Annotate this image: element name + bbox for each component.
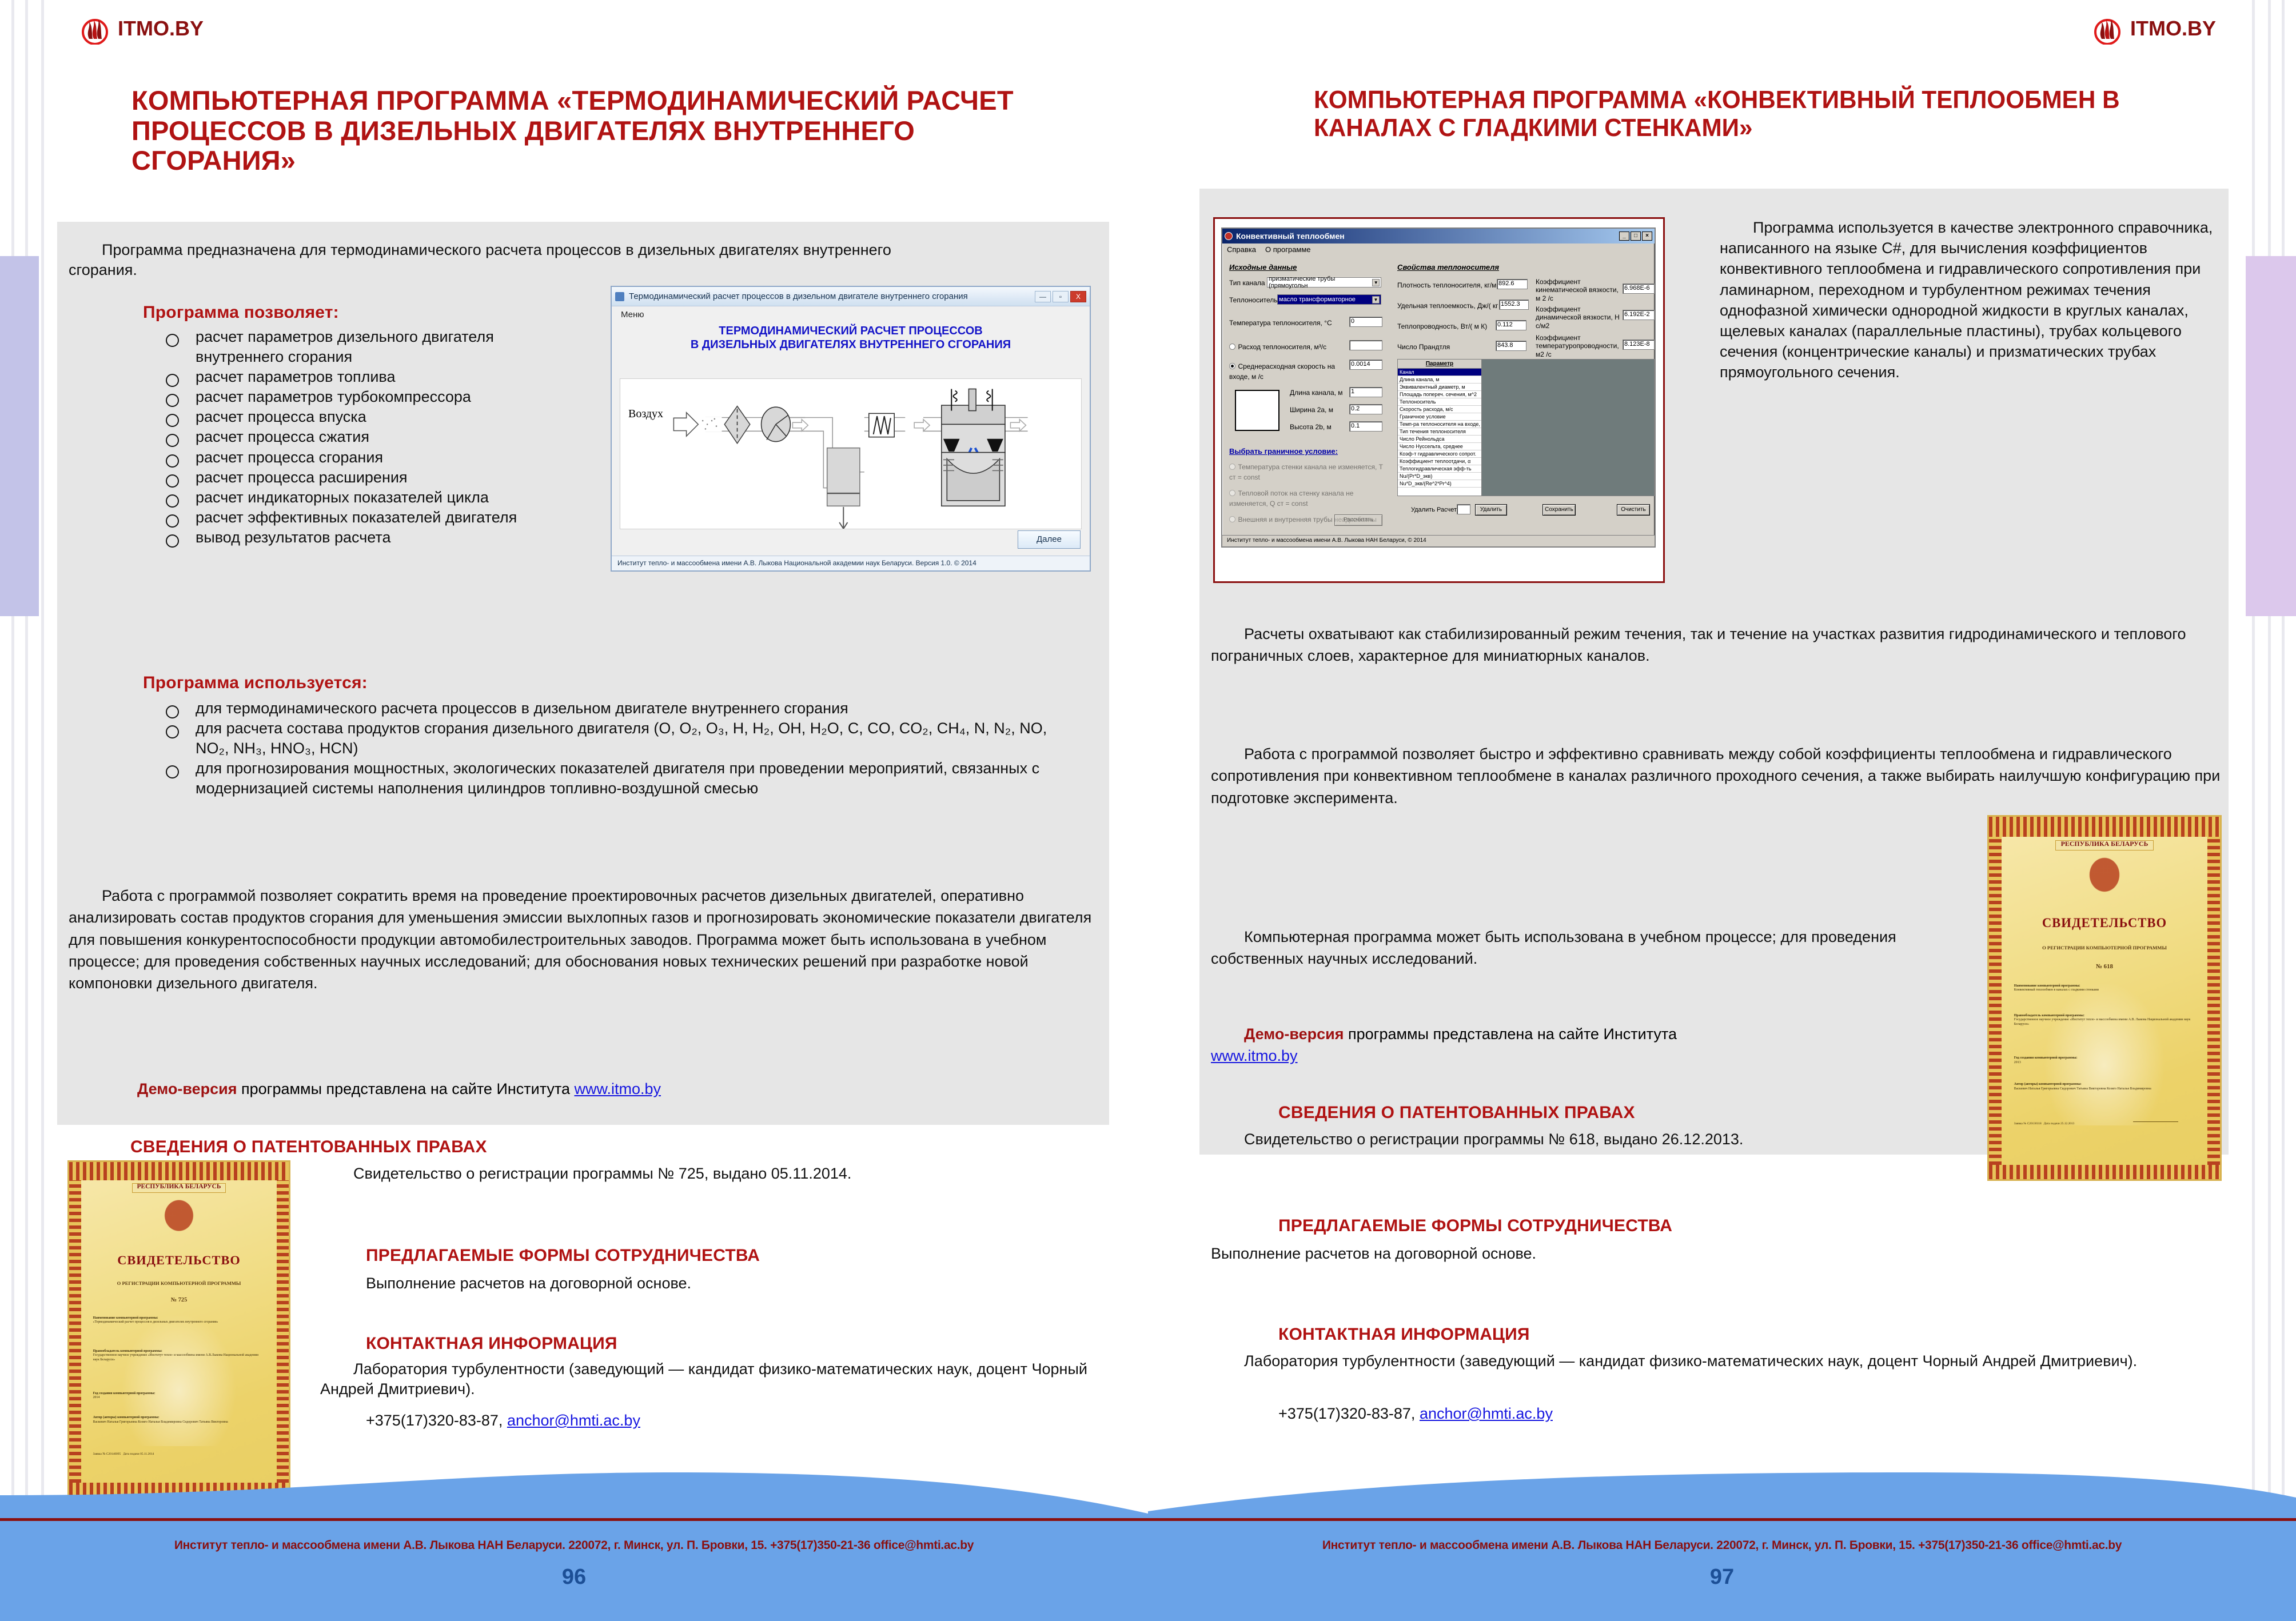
table-row[interactable]: Длина канала, м: [1398, 376, 1481, 384]
engine-schematic-icon: [620, 379, 1081, 529]
demo-link[interactable]: www.itmo.by: [1211, 1047, 1298, 1064]
calculate-button[interactable]: Рассчитать: [1334, 514, 1382, 526]
table-row[interactable]: Nu/(Pr*D_экв): [1398, 473, 1481, 480]
cert-number: № 725: [81, 1297, 277, 1303]
certificate-image: РЕСПУБЛИКА БЕЛАРУСЬ СВИДЕТЕЛЬСТВО О РЕГИ…: [1987, 815, 2222, 1181]
cert-title: СВИДЕТЕЛЬСТВО: [2010, 916, 2199, 931]
cert-f5-label: Заявка №: [93, 1452, 106, 1456]
contact-phone-line: +375(17)320-83-87, anchor@hmti.ac.by: [366, 1411, 1086, 1431]
velocity-input[interactable]: 0.0014: [1349, 360, 1382, 370]
page-left: ITMO.BY КОМПЬЮТЕРНАЯ ПРОГРАММА «ТЕРМОДИН…: [0, 0, 1148, 1621]
demo-line: Демо-версия программы представлена на са…: [1211, 1023, 1943, 1067]
page-right: ITMO.BY КОМПЬЮТЕРНАЯ ПРОГРАММА «КОНВЕКТИ…: [1148, 0, 2296, 1621]
decor-vrule: [2268, 0, 2271, 1621]
list-item: расчет параметров топлива: [143, 367, 543, 387]
grid-header: Параметр: [1398, 360, 1481, 369]
cert-f4-value: Васкевич Наталья Григорьевна Козяго Ната…: [93, 1420, 228, 1424]
cert-f4-label: Автор (авторы) компьютерной программы:: [2014, 1083, 2195, 1087]
window-statusbar: Институт тепло- и массообмена имени А.В.…: [1222, 535, 1655, 546]
prop2-value-0[interactable]: 6.968E-6: [1623, 284, 1655, 294]
table-row[interactable]: Число Рейнольдса: [1398, 436, 1481, 443]
list-item: расчет параметров турбокомпрессора: [143, 387, 543, 407]
list-item: расчет процесса впуска: [143, 407, 543, 427]
cert-f5-value: С20130118: [2027, 1122, 2042, 1125]
coop-text: Выполнение расчетов на договорной основе…: [1211, 1244, 1954, 1264]
decor-lilac-block: [0, 256, 39, 616]
field-label-length: Длина канала, м: [1290, 389, 1343, 397]
prop-label-0: Плотность теплоносителя, кг/м 3: [1397, 281, 1502, 289]
cert-signature: [2133, 1092, 2178, 1122]
table-row[interactable]: Коэффициент теплоотдачи, α: [1398, 458, 1481, 465]
decor-vrule: [41, 0, 44, 1621]
contact-heading: КОНТАКТНАЯ ИНФОРМАЦИЯ: [1278, 1325, 1530, 1344]
delete-number-input[interactable]: [1457, 504, 1470, 514]
cert-subtitle: О РЕГИСТРАЦИИ КОМПЬЮТЕРНОЙ ПРОГРАММЫ: [2014, 945, 2195, 951]
patent-text: Свидетельство о регистрации программы № …: [1211, 1129, 1954, 1149]
coop-heading: ПРЕДЛАГАЕМЫЕ ФОРМЫ СОТРУДНИЧЕСТВА: [1278, 1216, 1672, 1236]
paragraph-2: Расчеты охватывают как стабилизированный…: [1211, 623, 2223, 667]
paragraph-4: Компьютерная программа может быть исполь…: [1211, 926, 1908, 970]
maximize-button[interactable]: ▫: [1053, 291, 1069, 302]
list-item: расчет эффективных показателей двигателя: [143, 508, 543, 528]
cert-number: № 618: [2002, 963, 2207, 970]
page-number: 96: [0, 1565, 1148, 1590]
app-heading-line2: В ДИЗЕЛЬНЫХ ДВИГАТЕЛЯХ ВНУТРЕННЕГО СГОРА…: [612, 338, 1090, 352]
footer-rule: [1148, 1518, 2296, 1521]
app-circle-icon: [1225, 232, 1233, 240]
closing-paragraph: Работа с программой позволяет сократить …: [69, 885, 1098, 995]
flame-drop-icon: [80, 13, 110, 45]
list-item: вывод результатов расчета: [143, 528, 543, 548]
bc-option-2-radio[interactable]: [1229, 516, 1235, 522]
maximize-button[interactable]: □: [1631, 231, 1641, 241]
footer-rule: [0, 1518, 1148, 1521]
menu-item-menu[interactable]: Меню: [612, 306, 1090, 320]
chevron-down-icon[interactable]: ▼: [1372, 296, 1380, 304]
list-item: расчет процесса сгорания: [143, 448, 543, 468]
cert-f3-label: Год создания компьютерной программы:: [2014, 1056, 2195, 1060]
menu-item-help[interactable]: Справка: [1227, 245, 1256, 254]
footer-text: Институт тепло- и массообмена имени А.В.…: [1148, 1539, 2296, 1552]
cert-f3-value: 2014: [93, 1396, 100, 1399]
chevron-down-icon[interactable]: ▼: [1372, 279, 1380, 286]
certificate-image: РЕСПУБЛИКА БЕЛАРУСЬ СВИДЕТЕЛЬСТВО О РЕГИ…: [67, 1160, 290, 1498]
coolant-select[interactable]: масло трансформаторное ▼: [1277, 294, 1381, 305]
page-title: КОМПЬЮТЕРНАЯ ПРОГРАММА «КОНВЕКТИВНЫЙ ТЕП…: [1314, 86, 2181, 142]
used-heading: Программа используется:: [143, 673, 368, 693]
list-item: расчет индикаторных показателей цикла: [143, 488, 543, 508]
field-label-flowrate: Расход теплоносителя, м³/с: [1238, 343, 1326, 351]
demo-text: программы представлена на сайте Институт…: [237, 1080, 574, 1097]
brand-logo: ITMO.BY: [2092, 13, 2216, 45]
contact-email[interactable]: anchor@hmti.ac.by: [1420, 1405, 1553, 1422]
cert-subtitle: О РЕГИСТРАЦИИ КОМПЬЮТЕРНОЙ ПРОГРАММЫ: [93, 1280, 265, 1286]
contact-text: Лаборатория турбулентности (заведующий —…: [1211, 1351, 2234, 1371]
channel-type-select[interactable]: призматические трубы (прямоугольн ▼: [1267, 277, 1381, 288]
close-button[interactable]: X: [1070, 291, 1086, 302]
prop-value-0[interactable]: 892.6: [1497, 279, 1528, 289]
table-row[interactable]: Число Нуссельта, среднее: [1398, 443, 1481, 450]
table-row[interactable]: Теплогидравлическая эфф-ть: [1398, 465, 1481, 473]
cert-f6-label: Дата подачи: [2044, 1122, 2060, 1125]
brand-logo: ITMO.BY: [80, 13, 204, 45]
table-row[interactable]: Граничное условие: [1398, 413, 1481, 421]
delete-button[interactable]: Удалить: [1475, 504, 1507, 516]
bc-option-1-radio[interactable]: [1229, 490, 1235, 496]
group-input-label: Исходные данные: [1229, 263, 1297, 272]
cert-republic: РЕСПУБЛИКА БЕЛАРУСЬ: [2055, 840, 2154, 851]
cert-title: СВИДЕТЕЛЬСТВО: [89, 1253, 269, 1268]
clear-button[interactable]: Очистить: [1617, 504, 1650, 516]
velocity-radio[interactable]: [1229, 363, 1235, 369]
menubar: Справка О программе: [1222, 243, 1655, 255]
table-row[interactable]: Темп-ра теплоносителя на входе, С: [1398, 421, 1481, 428]
cert-f4-value: Васкевич Наталья Григорьевна Сидорович Т…: [2014, 1087, 2151, 1091]
cert-emblem-icon: [156, 1199, 202, 1241]
patent-heading: СВЕДЕНИЯ О ПАТЕНТОВАННЫХ ПРАВАХ: [1278, 1103, 1635, 1123]
flowrate-input[interactable]: [1349, 340, 1382, 350]
prop-value-2[interactable]: 0.112: [1496, 320, 1526, 330]
list-item: для расчета состава продуктов сгорания д…: [143, 718, 1069, 758]
table-row[interactable]: Коэф-т гидравлического сопрот.: [1398, 450, 1481, 458]
menu-item-about[interactable]: О программе: [1265, 245, 1311, 254]
window-titlebar: Термодинамический расчет процессов в диз…: [612, 287, 1090, 306]
field-label-width: Ширина 2a, м: [1290, 406, 1333, 414]
cert-f3-label: Год создания компьютерной программы:: [93, 1392, 265, 1396]
demo-line: Демо-версия программы представлена на са…: [137, 1080, 1063, 1098]
allows-heading: Программа позволяет:: [143, 303, 339, 322]
contact-phone: +375(17)320-83-87,: [366, 1412, 507, 1429]
save-button[interactable]: Сохранить: [1542, 504, 1576, 516]
list-item: расчет параметров дизельного двигателя в…: [143, 327, 543, 367]
list-item: для прогнозирования мощностных, экологич…: [143, 758, 1069, 798]
prop-value-3[interactable]: 843.8: [1496, 341, 1526, 351]
paragraph-1: Программа используется в качестве электр…: [1720, 217, 2229, 382]
contact-email[interactable]: anchor@hmti.ac.by: [507, 1412, 640, 1429]
bc-option-0-label: Температура стенки канала не изменяется,…: [1229, 463, 1383, 481]
channel-cross-section-icon: [1235, 390, 1279, 431]
close-button[interactable]: ×: [1642, 231, 1652, 241]
table-row[interactable]: Площадь попереч. сечения, м^2: [1398, 391, 1481, 398]
decor-vrule: [25, 0, 28, 1621]
patent-text: Свидетельство о регистрации программы № …: [320, 1164, 1086, 1184]
demo-label: Демо-версия: [1244, 1025, 1344, 1043]
prop2-value-1[interactable]: 6.192E-2: [1623, 310, 1655, 320]
table-row[interactable]: Канал: [1398, 369, 1481, 376]
contact-heading: КОНТАКТНАЯ ИНФОРМАЦИЯ: [366, 1334, 617, 1354]
window-title: Конвективный теплообмен: [1236, 231, 1345, 241]
prop2-label-0: Коэффициент кинематической вязкости, м 2…: [1536, 278, 1620, 302]
cert-f2-label: Правообладатель компьютерной программы:: [2014, 1014, 2195, 1018]
minimize-button[interactable]: _: [1619, 231, 1629, 241]
cert-f6-label: Дата подачи: [123, 1452, 139, 1456]
table-row[interactable]: Теплоноситель: [1398, 398, 1481, 406]
demo-label: Демо-версия: [137, 1080, 237, 1097]
page-title: КОМПЬЮТЕРНАЯ ПРОГРАММА «ТЕРМОДИНАМИЧЕСКИ…: [131, 86, 1069, 176]
contact-text: Лаборатория турбулентности (заведующий —…: [320, 1359, 1092, 1399]
cert-f2-value: Государственное научное учреждение «Инст…: [93, 1354, 258, 1361]
cert-emblem-icon: [2080, 856, 2129, 902]
coop-text: Выполнение расчетов на договорной основе…: [366, 1273, 1086, 1293]
app-window-icon: [615, 292, 624, 301]
app-heading-line1: ТЕРМОДИНАМИЧЕСКИЙ РАСЧЕТ ПРОЦЕССОВ: [612, 324, 1090, 338]
list-item: для термодинамического расчета процессов…: [143, 698, 1069, 718]
cert-f4-label: Автор (авторы) компьютерной программы:: [93, 1416, 265, 1420]
brand-wordmark: ITMO.BY: [2130, 17, 2216, 41]
cert-f5-value: С20140095: [106, 1452, 121, 1456]
brochure-spread: ITMO.BY КОМПЬЮТЕРНАЯ ПРОГРАММА «ТЕРМОДИН…: [0, 0, 2296, 1621]
window-titlebar: Конвективный теплообмен _ □ ×: [1222, 229, 1655, 243]
table-row[interactable]: Эквивалентный диаметр, м: [1398, 384, 1481, 391]
length-input[interactable]: 1: [1349, 387, 1382, 397]
patent-heading: СВЕДЕНИЯ О ПАТЕНТОВАННЫХ ПРАВАХ: [130, 1137, 487, 1157]
next-button[interactable]: Далее: [1018, 530, 1081, 549]
decor-vrule: [11, 0, 14, 1621]
cert-republic: РЕСПУБЛИКА БЕЛАРУСЬ: [132, 1183, 226, 1193]
field-label-coolant: Теплоноситель: [1229, 296, 1278, 304]
width-input[interactable]: 0.2: [1349, 404, 1382, 414]
field-label-velocity: Среднерасходная скорость на входе, м /с: [1229, 362, 1335, 381]
cert-f3-value: 2013: [2014, 1061, 2021, 1064]
diagram-canvas: Воздух: [620, 378, 1082, 529]
contact-phone-line: +375(17)320-83-87, anchor@hmti.ac.by: [1278, 1404, 2227, 1424]
group-props-label: Свойства теплоносителя: [1397, 263, 1499, 272]
field-label-channel-type: Тип канала: [1229, 279, 1265, 287]
field-label-height: Высота 2b, м: [1290, 423, 1332, 431]
decor-vrule: [2252, 0, 2255, 1621]
paragraph-3: Работа с программой позволяет быстро и э…: [1211, 743, 2223, 809]
table-row[interactable]: Тип течения теплоносителя: [1398, 428, 1481, 436]
used-list: для термодинамического расчета процессов…: [143, 698, 1069, 798]
brand-wordmark: ITMO.BY: [118, 17, 204, 41]
prop-value-1[interactable]: 1552.3: [1499, 300, 1529, 310]
height-input[interactable]: 0.1: [1349, 421, 1382, 432]
parameters-grid[interactable]: Параметр Канал Длина канала, м Эквивален…: [1397, 359, 1482, 496]
cert-f5-label: Заявка №: [2014, 1122, 2027, 1125]
flowrate-radio[interactable]: [1229, 344, 1235, 350]
footer-text: Институт тепло- и массообмена имени А.В.…: [0, 1539, 1148, 1552]
cert-f1-value: Конвективный теплообмен в каналах с глад…: [2014, 988, 2099, 992]
prop2-value-2[interactable]: 8.123E-8: [1623, 340, 1655, 350]
decor-vrule: [2282, 0, 2285, 1621]
list-item: расчет процесса расширения: [143, 468, 543, 488]
prop-label-3: Число Прандтля: [1397, 343, 1450, 351]
prop-label-2: Теплопроводность, Вт/( м К): [1397, 322, 1487, 330]
cert-f1-value: «Термодинамический расчет процессов в ди…: [93, 1320, 218, 1324]
coop-heading: ПРЕДЛАГАЕМЫЕ ФОРМЫ СОТРУДНИЧЕСТВА: [366, 1246, 760, 1265]
demo-text: программы представлена на сайте Институт…: [1344, 1025, 1677, 1043]
window-statusbar: Институт тепло- и массообмена имени А.В.…: [612, 556, 1090, 570]
demo-link[interactable]: www.itmo.by: [574, 1080, 661, 1097]
flame-drop-icon: [2092, 13, 2122, 45]
decor-lilac-block: [2246, 256, 2296, 616]
bc-option-0-radio[interactable]: [1229, 464, 1235, 470]
page-number: 97: [1148, 1565, 2296, 1590]
prop2-label-1: Коэффициент динамической вязкости, Н с/м…: [1536, 305, 1620, 330]
prop2-label-2: Коэффициент температуропроводности, м2 /…: [1536, 334, 1620, 358]
allows-list: расчет параметров дизельного двигателя в…: [143, 327, 543, 548]
cert-f2-value: Государственное научное учреждение «Инст…: [2014, 1018, 2190, 1025]
bc-heading: Выбрать граничное условие:: [1229, 447, 1338, 456]
field-label-temperature: Температура теплоносителя, °C: [1229, 319, 1344, 327]
minimize-button[interactable]: —: [1035, 291, 1051, 302]
temperature-input[interactable]: 0: [1349, 317, 1382, 327]
cert-f6-value: 05.11.2014: [140, 1452, 154, 1456]
contact-phone: +375(17)320-83-87,: [1278, 1405, 1420, 1422]
table-row[interactable]: Nu*D_экв/(Re^2*Pr^4): [1398, 480, 1481, 488]
list-item: расчет процесса сжатия: [143, 427, 543, 447]
app-screenshot-convective: Конвективный теплообмен _ □ × Справка О …: [1221, 227, 1656, 548]
bc-option-1-label: Тепловой поток на стенку канала не измен…: [1229, 489, 1353, 508]
intro-paragraph: Программа предназначена для термодинамич…: [69, 240, 949, 280]
prop-label-1: Удельная теплоемкость, Дж/( кг К): [1397, 302, 1506, 310]
window-title: Термодинамический расчет процессов в диз…: [629, 292, 968, 301]
app-screenshot-thermo: Термодинамический расчет процессов в диз…: [611, 286, 1091, 572]
table-row[interactable]: Скорость расхода, м/с: [1398, 406, 1481, 413]
cert-f6-value: 25.12.2013: [2060, 1122, 2074, 1125]
